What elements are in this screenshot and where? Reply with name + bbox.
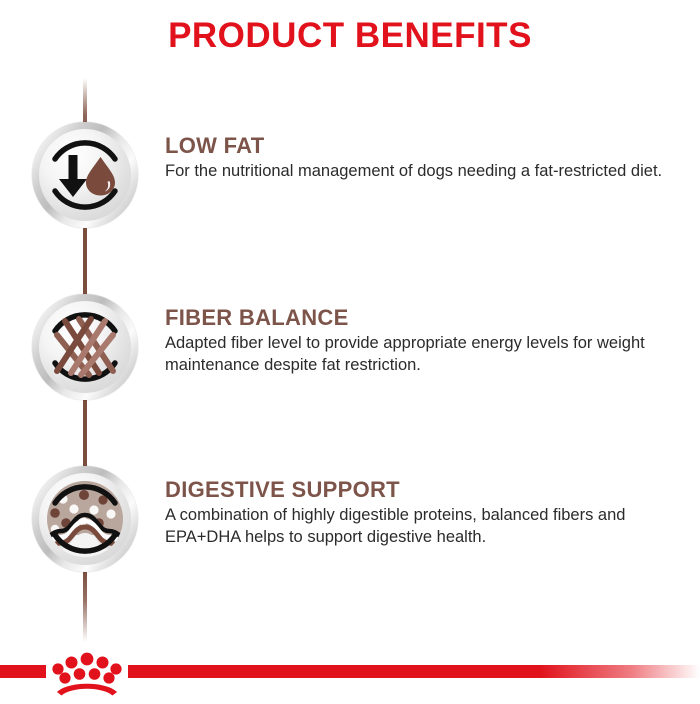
benefit-description: For the nutritional management of dogs n… xyxy=(165,161,675,183)
connector-line-1 xyxy=(83,228,87,300)
benefit-description: Adapted fiber level to provide appropria… xyxy=(165,333,675,377)
fiber-balance-icon xyxy=(32,294,138,400)
footer-bar-left xyxy=(0,665,46,678)
footer xyxy=(0,655,700,700)
down-arrow-glyph xyxy=(59,155,87,197)
benefit-title: DIGESTIVE SUPPORT xyxy=(165,478,675,502)
low-fat-icon xyxy=(32,122,138,228)
benefit-text-fiber-balance: FIBER BALANCE Adapted fiber level to pro… xyxy=(165,306,675,377)
connector-line-2 xyxy=(83,400,87,472)
footer-bar-right xyxy=(128,665,700,678)
woven-lattice-glyph xyxy=(57,319,113,375)
benefit-text-digestive-support: DIGESTIVE SUPPORT A combination of highl… xyxy=(165,478,675,549)
benefit-title: LOW FAT xyxy=(165,134,675,158)
digestive-support-icon xyxy=(32,466,138,572)
product-benefits-page: PRODUCT BENEFITS xyxy=(0,0,700,700)
fat-droplet-glyph xyxy=(86,157,115,196)
benefit-title: FIBER BALANCE xyxy=(165,306,675,330)
royal-canin-crown-logo xyxy=(50,647,124,699)
connector-line-bottom xyxy=(83,572,87,642)
benefit-text-low-fat: LOW FAT For the nutritional management o… xyxy=(165,134,675,183)
page-title: PRODUCT BENEFITS xyxy=(0,16,700,56)
benefit-description: A combination of highly digestible prote… xyxy=(165,505,675,549)
